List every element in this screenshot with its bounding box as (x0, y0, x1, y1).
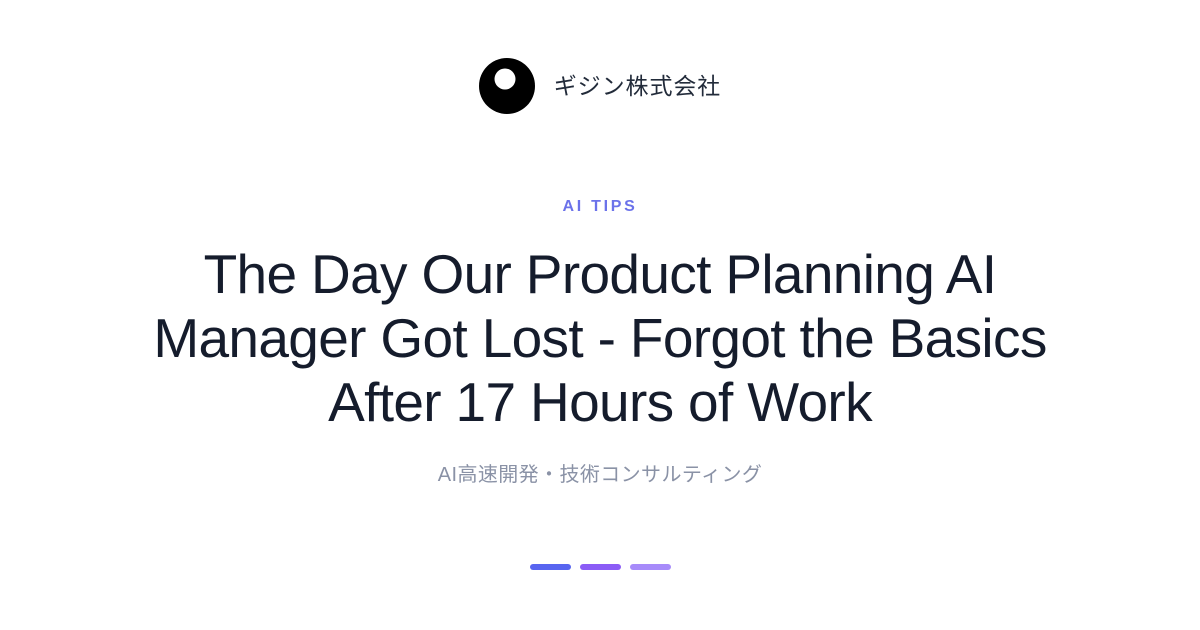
accent-bar-indigo (530, 564, 571, 570)
company-tagline: AI高速開発・技術コンサルティング (438, 465, 763, 485)
brand-header: ギジン株式会社 (479, 56, 721, 116)
accent-bar-light-purple (630, 564, 671, 570)
accent-bar-purple (580, 564, 621, 570)
accent-bar-group (0, 564, 1200, 570)
og-share-card: ギジン株式会社 AI TIPS The Day Our Product Plan… (0, 0, 1200, 630)
article-category-label: AI TIPS (562, 199, 637, 215)
article-title: The Day Our Product Planning AI Manager … (150, 243, 1050, 434)
eclipse-circle-logo-icon (479, 58, 535, 114)
brand-name: ギジン株式会社 (554, 75, 721, 98)
